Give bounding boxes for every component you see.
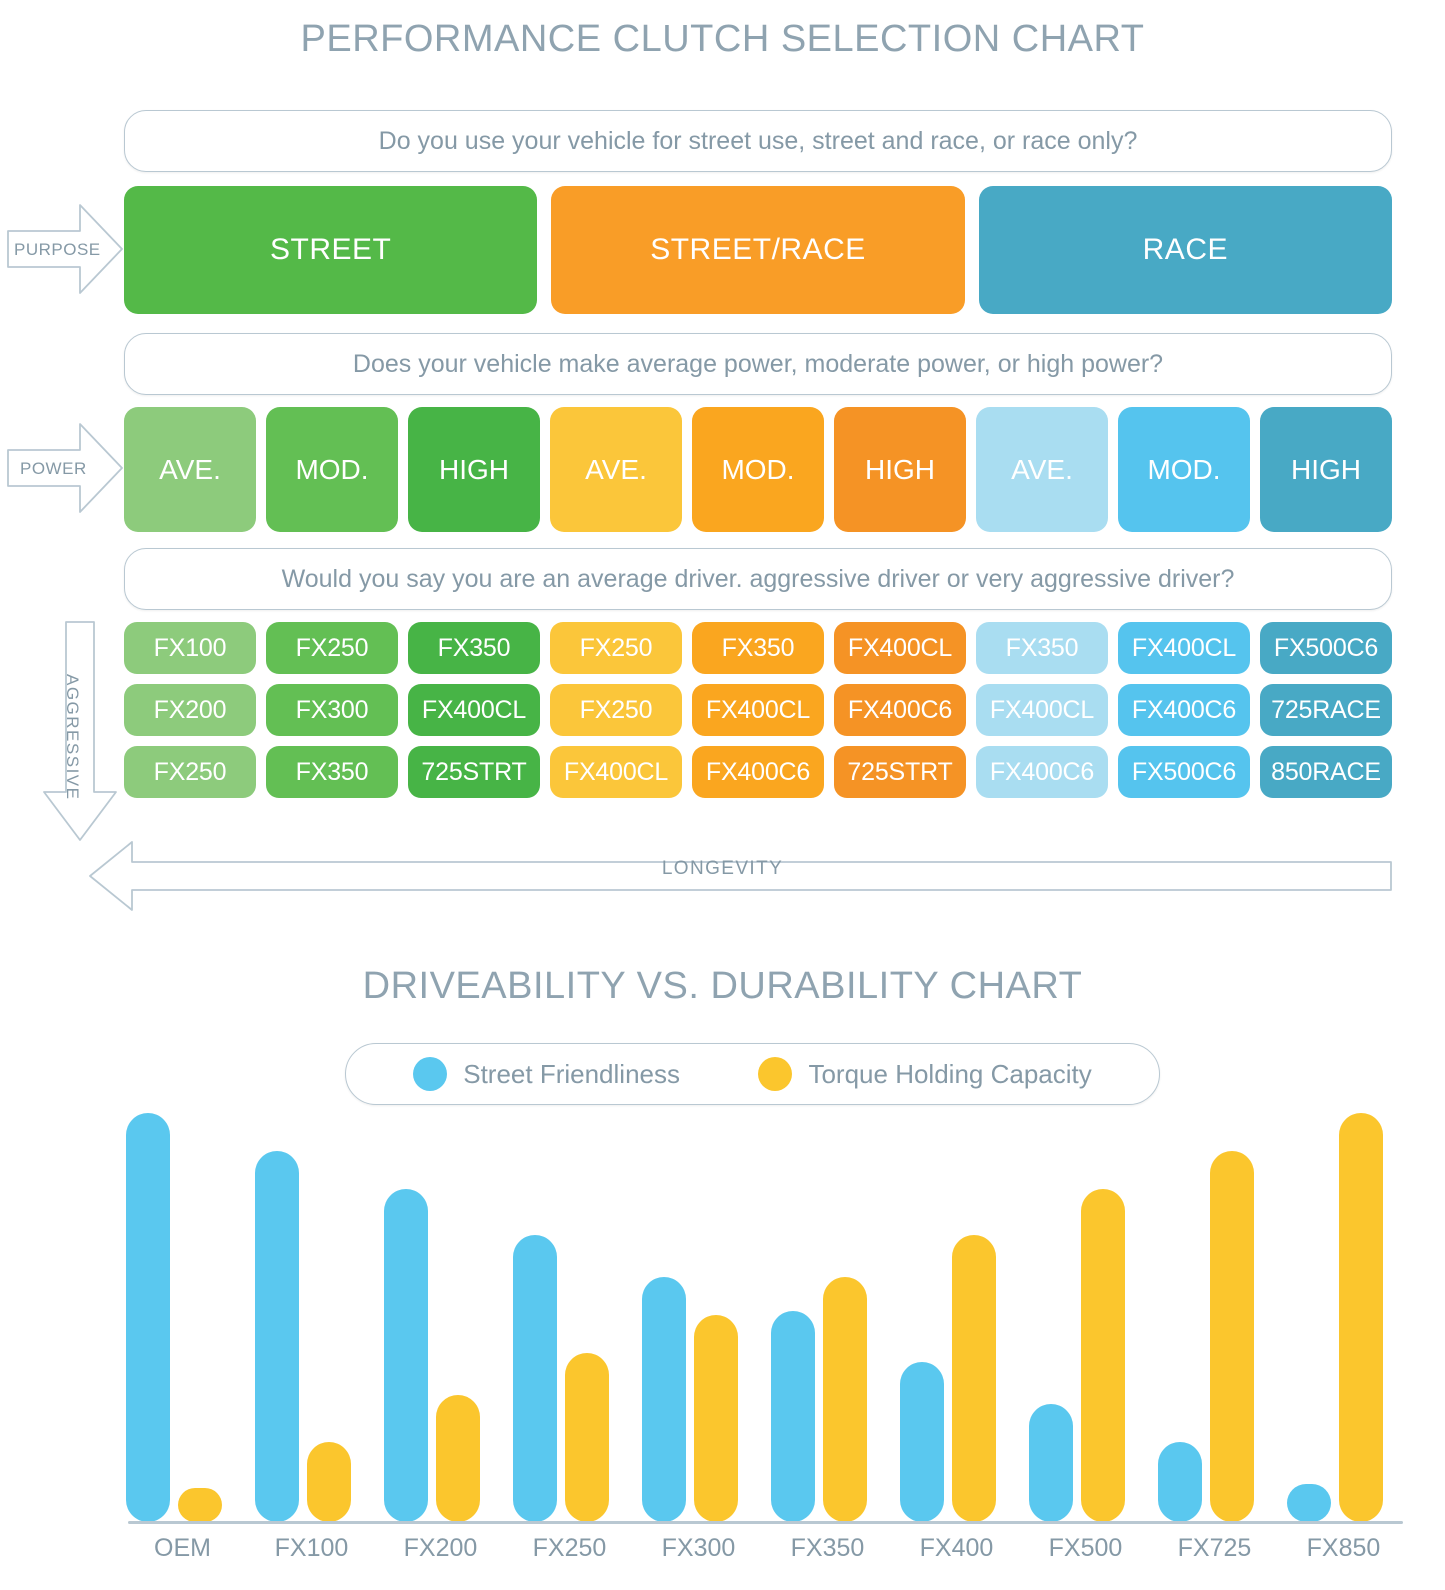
x-axis-label-fx100: FX100 bbox=[247, 1534, 376, 1563]
bar-fx500-street-friendliness bbox=[1029, 1404, 1073, 1522]
product-chip-label: FX400CL bbox=[564, 758, 668, 787]
x-axis-label-fx850: FX850 bbox=[1279, 1534, 1408, 1563]
product-chip-label: FX400C6 bbox=[848, 696, 952, 725]
product-chip-r1-c3[interactable]: FX250 bbox=[550, 684, 682, 736]
product-chip-r1-c5[interactable]: FX400C6 bbox=[834, 684, 966, 736]
product-chip-r0-c7[interactable]: FX400CL bbox=[1118, 622, 1250, 674]
product-chip-label: 850RACE bbox=[1271, 758, 1381, 787]
power-cell-6[interactable]: AVE. bbox=[976, 407, 1108, 532]
power-row: AVE.MOD.HIGHAVE.MOD.HIGHAVE.MOD.HIGH bbox=[124, 407, 1392, 532]
product-chip-r1-c0[interactable]: FX200 bbox=[124, 684, 256, 736]
bar-fx100-torque-holding-capacity bbox=[307, 1442, 351, 1522]
chart-title: DRIVEABILITY VS. DURABILITY CHART bbox=[0, 965, 1445, 1008]
bar-group-oem bbox=[126, 1060, 222, 1522]
product-chip-r0-c0[interactable]: FX100 bbox=[124, 622, 256, 674]
product-chip-label: FX250 bbox=[154, 758, 227, 787]
power-cell-7[interactable]: MOD. bbox=[1118, 407, 1250, 532]
product-chip-label: FX250 bbox=[296, 634, 369, 663]
question-purpose-text: Do you use your vehicle for street use, … bbox=[379, 127, 1138, 156]
product-chip-r2-c5[interactable]: 725STRT bbox=[834, 746, 966, 798]
x-axis-label-fx400: FX400 bbox=[892, 1534, 1021, 1563]
bar-oem-street-friendliness bbox=[126, 1113, 170, 1522]
x-axis-label-fx350: FX350 bbox=[763, 1534, 892, 1563]
product-grid: FX100FX250FX350FX250FX350FX400CLFX350FX4… bbox=[124, 622, 1392, 808]
bar-oem-torque-holding-capacity bbox=[178, 1488, 222, 1522]
product-chip-r2-c2[interactable]: 725STRT bbox=[408, 746, 540, 798]
bar-fx200-street-friendliness bbox=[384, 1189, 428, 1522]
bar-fx850-street-friendliness bbox=[1287, 1484, 1331, 1522]
product-chip-label: FX400CL bbox=[848, 634, 952, 663]
purpose-cell-race[interactable]: RACE bbox=[979, 186, 1392, 314]
bar-group-fx250 bbox=[513, 1060, 609, 1522]
power-cell-2[interactable]: HIGH bbox=[408, 407, 540, 532]
power-cell-5[interactable]: HIGH bbox=[834, 407, 966, 532]
power-cell-label: HIGH bbox=[1291, 454, 1361, 486]
product-chip-label: FX350 bbox=[296, 758, 369, 787]
question-driver-style: Would you say you are an average driver.… bbox=[124, 548, 1392, 610]
bar-group-fx500 bbox=[1029, 1060, 1125, 1522]
product-chip-label: FX400CL bbox=[990, 696, 1094, 725]
bar-fx725-street-friendliness bbox=[1158, 1442, 1202, 1522]
power-cell-label: AVE. bbox=[1011, 454, 1073, 486]
power-cell-label: AVE. bbox=[159, 454, 221, 486]
bar-group-fx725 bbox=[1158, 1060, 1254, 1522]
x-axis-label-fx500: FX500 bbox=[1021, 1534, 1150, 1563]
bar-group-fx300 bbox=[642, 1060, 738, 1522]
product-chip-label: 725STRT bbox=[847, 758, 952, 787]
bar-fx850-torque-holding-capacity bbox=[1339, 1113, 1383, 1522]
power-cell-label: MOD. bbox=[295, 454, 368, 486]
power-label: POWER bbox=[20, 459, 87, 479]
product-chip-label: FX250 bbox=[580, 634, 653, 663]
x-axis-label-oem: OEM bbox=[118, 1534, 247, 1563]
product-chip-r1-c8[interactable]: 725RACE bbox=[1260, 684, 1392, 736]
product-chip-label: FX350 bbox=[1006, 634, 1079, 663]
product-chip-r1-c4[interactable]: FX400CL bbox=[692, 684, 824, 736]
product-chip-label: FX350 bbox=[722, 634, 795, 663]
bar-fx500-torque-holding-capacity bbox=[1081, 1189, 1125, 1522]
product-chip-label: FX400CL bbox=[422, 696, 526, 725]
product-grid-row: FX100FX250FX350FX250FX350FX400CLFX350FX4… bbox=[124, 622, 1392, 674]
product-chip-r1-c7[interactable]: FX400C6 bbox=[1118, 684, 1250, 736]
product-chip-label: 725RACE bbox=[1271, 696, 1381, 725]
x-axis-label-fx250: FX250 bbox=[505, 1534, 634, 1563]
question-purpose: Do you use your vehicle for street use, … bbox=[124, 110, 1392, 172]
purpose-label: PURPOSE bbox=[14, 240, 101, 260]
bar-group-fx100 bbox=[255, 1060, 351, 1522]
page-title: PERFORMANCE CLUTCH SELECTION CHART bbox=[0, 18, 1445, 61]
product-chip-r0-c4[interactable]: FX350 bbox=[692, 622, 824, 674]
product-chip-label: FX400C6 bbox=[706, 758, 810, 787]
power-cell-label: AVE. bbox=[585, 454, 647, 486]
product-grid-row: FX200FX300FX400CLFX250FX400CLFX400C6FX40… bbox=[124, 684, 1392, 736]
bar-fx250-torque-holding-capacity bbox=[565, 1353, 609, 1522]
product-chip-r0-c8[interactable]: FX500C6 bbox=[1260, 622, 1392, 674]
power-cell-3[interactable]: AVE. bbox=[550, 407, 682, 532]
product-chip-r2-c7[interactable]: FX500C6 bbox=[1118, 746, 1250, 798]
product-chip-label: FX200 bbox=[154, 696, 227, 725]
product-chip-label: 725STRT bbox=[421, 758, 526, 787]
product-chip-r2-c8[interactable]: 850RACE bbox=[1260, 746, 1392, 798]
bar-fx200-torque-holding-capacity bbox=[436, 1395, 480, 1522]
power-cell-label: HIGH bbox=[439, 454, 509, 486]
product-chip-label: FX400C6 bbox=[1132, 696, 1236, 725]
question-power-text: Does your vehicle make average power, mo… bbox=[353, 350, 1163, 379]
power-cell-8[interactable]: HIGH bbox=[1260, 407, 1392, 532]
product-chip-label: FX500C6 bbox=[1274, 634, 1378, 663]
product-chip-label: FX400CL bbox=[1132, 634, 1236, 663]
product-chip-label: FX400C6 bbox=[990, 758, 1094, 787]
bar-chart-plot-area bbox=[118, 1060, 1408, 1522]
product-chip-r2-c0[interactable]: FX250 bbox=[124, 746, 256, 798]
bar-group-fx200 bbox=[384, 1060, 480, 1522]
product-chip-label: FX400CL bbox=[706, 696, 810, 725]
aggressive-label: AGGRESSIVE bbox=[62, 674, 82, 800]
power-cell-label: MOD. bbox=[1147, 454, 1220, 486]
product-grid-row: FX250FX350725STRTFX400CLFX400C6725STRTFX… bbox=[124, 746, 1392, 798]
product-chip-r0-c2[interactable]: FX350 bbox=[408, 622, 540, 674]
purpose-cell-street[interactable]: STREET bbox=[124, 186, 537, 314]
product-chip-r0-c5[interactable]: FX400CL bbox=[834, 622, 966, 674]
purpose-cell-street-race[interactable]: STREET/RACE bbox=[551, 186, 964, 314]
product-chip-label: FX250 bbox=[580, 696, 653, 725]
power-cell-label: HIGH bbox=[865, 454, 935, 486]
purpose-arrow: PURPOSE bbox=[6, 201, 124, 297]
bar-group-fx350 bbox=[771, 1060, 867, 1522]
product-chip-label: FX300 bbox=[296, 696, 369, 725]
x-axis-label-fx725: FX725 bbox=[1150, 1534, 1279, 1563]
product-chip-r0-c1[interactable]: FX250 bbox=[266, 622, 398, 674]
purpose-cell-label: RACE bbox=[1143, 233, 1228, 267]
power-cell-label: MOD. bbox=[721, 454, 794, 486]
bar-fx100-street-friendliness bbox=[255, 1151, 299, 1522]
bar-fx350-torque-holding-capacity bbox=[823, 1277, 867, 1522]
product-chip-r1-c1[interactable]: FX300 bbox=[266, 684, 398, 736]
power-cell-1[interactable]: MOD. bbox=[266, 407, 398, 532]
bar-fx400-street-friendliness bbox=[900, 1362, 944, 1522]
aggressive-arrow: AGGRESSIVE bbox=[40, 620, 120, 842]
purpose-cell-label: STREET bbox=[270, 233, 391, 267]
bar-fx725-torque-holding-capacity bbox=[1210, 1151, 1254, 1522]
power-cell-0[interactable]: AVE. bbox=[124, 407, 256, 532]
power-arrow: POWER bbox=[6, 420, 124, 516]
x-axis-labels: OEMFX100FX200FX250FX300FX350FX400FX500FX… bbox=[118, 1534, 1408, 1578]
product-chip-r0-c3[interactable]: FX250 bbox=[550, 622, 682, 674]
bar-group-fx850 bbox=[1287, 1060, 1383, 1522]
x-axis-label-fx200: FX200 bbox=[376, 1534, 505, 1563]
bar-fx400-torque-holding-capacity bbox=[952, 1235, 996, 1522]
bar-fx300-street-friendliness bbox=[642, 1277, 686, 1522]
x-axis-label-fx300: FX300 bbox=[634, 1534, 763, 1563]
product-chip-r1-c2[interactable]: FX400CL bbox=[408, 684, 540, 736]
longevity-label: LONGEVITY bbox=[0, 858, 1445, 880]
question-driver-style-text: Would you say you are an average driver.… bbox=[282, 565, 1235, 594]
bar-fx350-street-friendliness bbox=[771, 1311, 815, 1522]
bar-fx300-torque-holding-capacity bbox=[694, 1315, 738, 1522]
purpose-cell-label: STREET/RACE bbox=[650, 233, 866, 267]
product-chip-r2-c3[interactable]: FX400CL bbox=[550, 746, 682, 798]
product-chip-r1-c6[interactable]: FX400CL bbox=[976, 684, 1108, 736]
product-chip-r2-c1[interactable]: FX350 bbox=[266, 746, 398, 798]
product-chip-r2-c4[interactable]: FX400C6 bbox=[692, 746, 824, 798]
x-axis-line bbox=[128, 1521, 1403, 1524]
power-cell-4[interactable]: MOD. bbox=[692, 407, 824, 532]
product-chip-r2-c6[interactable]: FX400C6 bbox=[976, 746, 1108, 798]
purpose-row: STREET STREET/RACE RACE bbox=[124, 186, 1392, 314]
product-chip-label: FX100 bbox=[154, 634, 227, 663]
bar-group-fx400 bbox=[900, 1060, 996, 1522]
product-chip-label: FX500C6 bbox=[1132, 758, 1236, 787]
bar-fx250-street-friendliness bbox=[513, 1235, 557, 1522]
product-chip-label: FX350 bbox=[438, 634, 511, 663]
question-power: Does your vehicle make average power, mo… bbox=[124, 333, 1392, 395]
product-chip-r0-c6[interactable]: FX350 bbox=[976, 622, 1108, 674]
